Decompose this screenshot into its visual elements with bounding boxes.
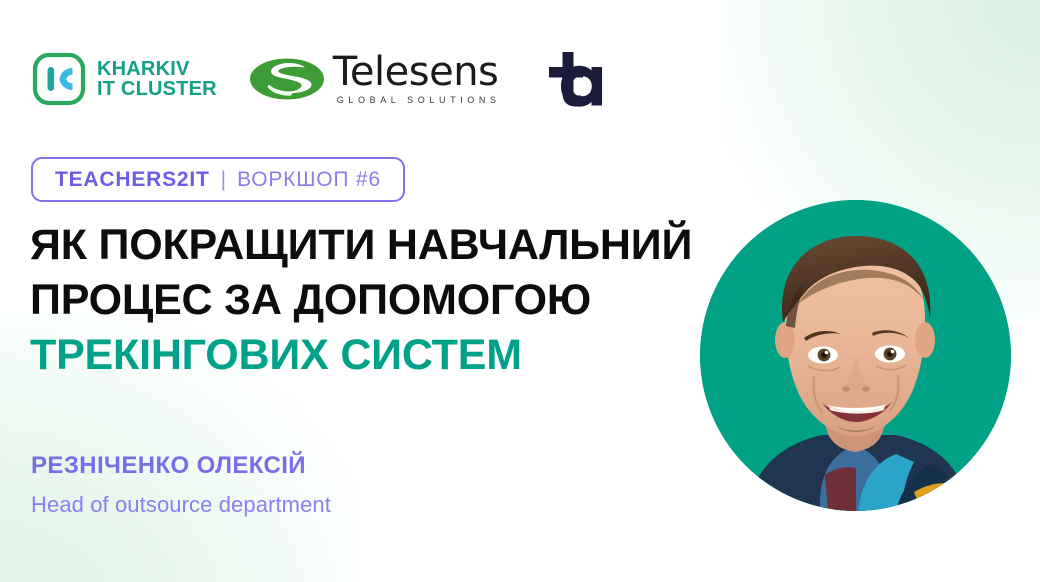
speaker-name: РЕЗНІЧЕНКО ОЛЕКСІЙ [31, 450, 331, 482]
workshop-badge: TEACHERS2IT | ВОРКШОП #6 [31, 157, 405, 202]
kic-line-1: KHARKIV [97, 59, 217, 79]
kic-line-2: IT CLUSTER [97, 79, 217, 99]
slide-title: ЯК ПОКРАЩИТИ НАВЧАЛЬНИЙ ПРОЦЕС ЗА ДОПОМО… [30, 218, 720, 383]
ta-logo-icon [539, 48, 611, 110]
badge-separator: | [221, 168, 226, 192]
logo-telesens: Telesens GLOBAL SOLUTIONS [249, 53, 501, 105]
presentation-slide: KHARKIV IT CLUSTER Telesens GLOBAL SOLUT… [0, 0, 1040, 582]
title-line-2: ПРОЦЕС ЗА ДОПОМОГОЮ [30, 273, 720, 328]
speaker-portrait [700, 200, 1011, 511]
kharkiv-it-cluster-logo-icon [32, 52, 86, 106]
title-line-1: ЯК ПОКРАЩИТИ НАВЧАЛЬНИЙ [30, 218, 720, 273]
telesens-swirl-icon [249, 54, 325, 104]
kharkiv-it-cluster-wordmark: KHARKIV IT CLUSTER [97, 59, 217, 100]
sponsor-logo-row: KHARKIV IT CLUSTER Telesens GLOBAL SOLUT… [32, 48, 611, 110]
badge-event-label: ВОРКШОП #6 [237, 168, 381, 192]
logo-ta [539, 48, 611, 110]
speaker-role: Head of outsource department [31, 488, 331, 522]
badge-program-label: TEACHERS2IT [55, 168, 210, 192]
telesens-wordmark: Telesens GLOBAL SOLUTIONS [333, 53, 501, 105]
telesens-tagline: GLOBAL SOLUTIONS [333, 95, 501, 105]
speaker-block: РЕЗНІЧЕНКО ОЛЕКСІЙ Head of outsource dep… [31, 450, 331, 522]
logo-kharkiv-it-cluster: KHARKIV IT CLUSTER [32, 52, 217, 106]
title-line-3: ТРЕКІНГОВИХ СИСТЕМ [30, 328, 720, 383]
telesens-name: Telesens [333, 53, 501, 92]
